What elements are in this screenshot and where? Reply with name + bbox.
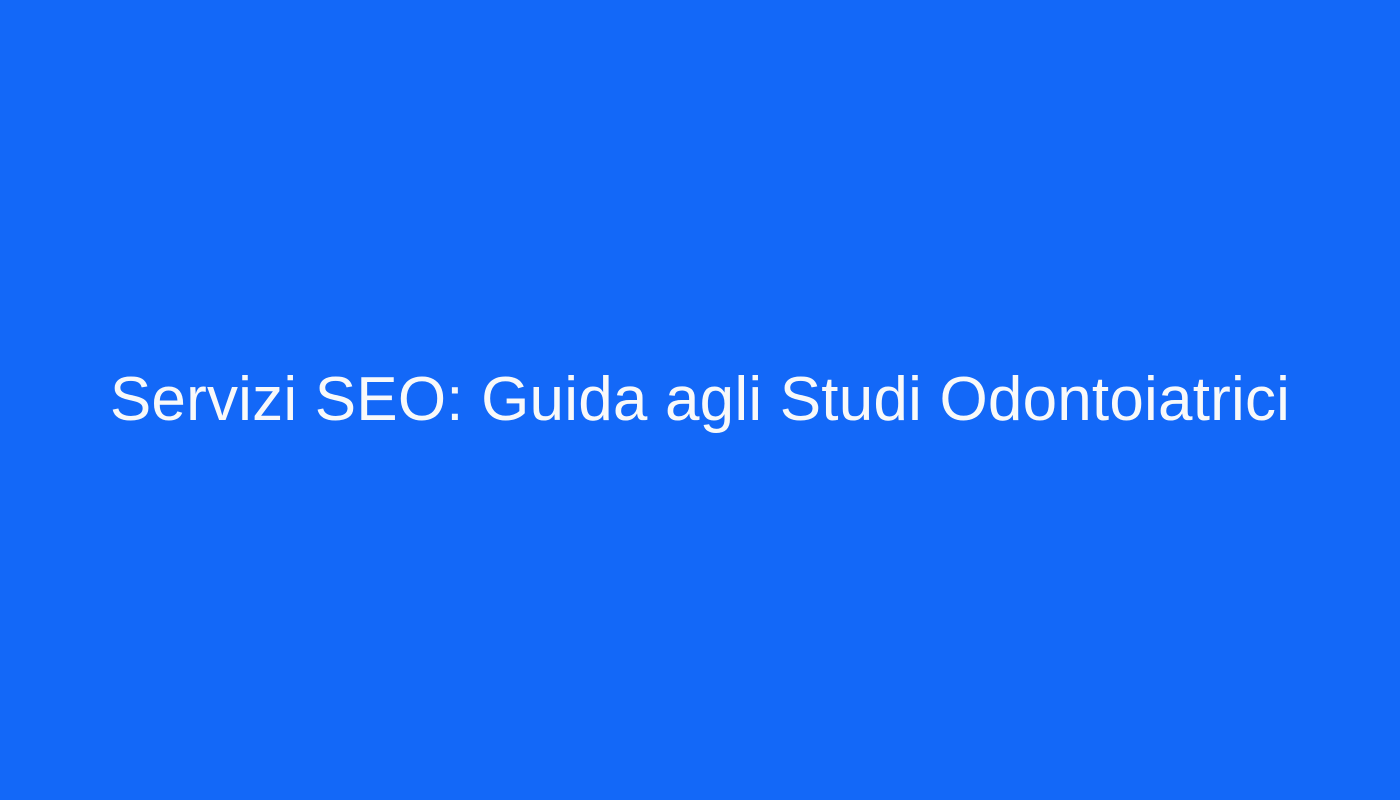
headline-container: Servizi SEO: Guida agli Studi Odontoiatr… [0,363,1400,436]
banner-canvas: Servizi SEO: Guida agli Studi Odontoiatr… [0,0,1400,800]
page-title: Servizi SEO: Guida agli Studi Odontoiatr… [40,363,1360,436]
